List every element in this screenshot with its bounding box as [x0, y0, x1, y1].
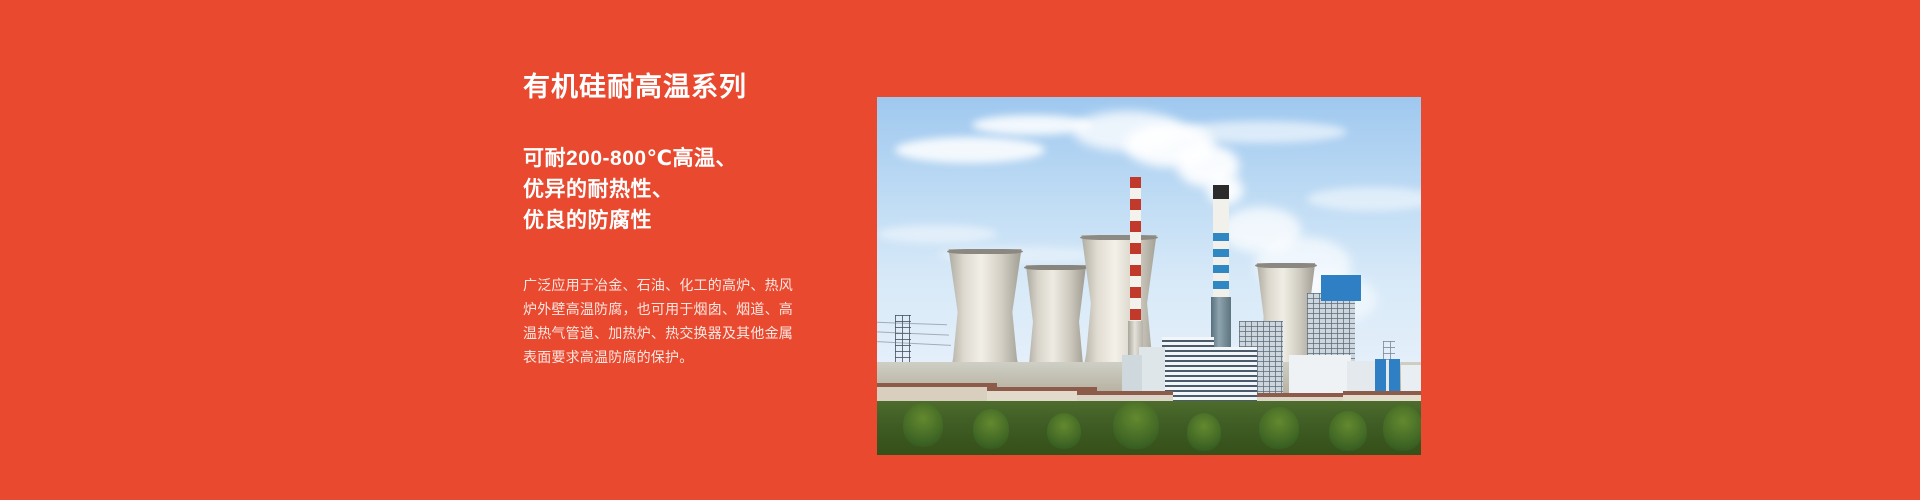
- tree-icon: [1259, 407, 1299, 449]
- banner-text-column: 有机硅耐高温系列 可耐200-800℃高温、 优异的耐热性、 优良的防腐性 广泛…: [523, 70, 843, 383]
- blue-striped-chimney: [1213, 185, 1229, 297]
- photo-canvas: [877, 97, 1421, 455]
- striped-chimney: [1130, 177, 1141, 327]
- subheadline-line-2: 优异的耐热性、: [523, 174, 843, 205]
- tree-icon: [1329, 411, 1367, 451]
- subheadline-line-1: 可耐200-800℃高温、: [523, 143, 843, 174]
- page-title: 有机硅耐高温系列: [523, 70, 843, 104]
- power-plant-photo: [877, 97, 1421, 455]
- subheadline-line-3: 优良的防腐性: [523, 205, 843, 236]
- tree-icon: [1383, 405, 1421, 451]
- office-building: [1213, 347, 1257, 401]
- subheadline-group: 可耐200-800℃高温、 优异的耐热性、 优良的防腐性: [523, 143, 843, 236]
- cooling-tower-rim: [947, 249, 1023, 254]
- tree-icon: [1187, 413, 1221, 451]
- tree-icon: [1113, 401, 1159, 449]
- cooling-tower-rim: [1024, 265, 1088, 270]
- rooftop: [1077, 391, 1173, 395]
- rooftop: [877, 383, 997, 387]
- body-description: 广泛应用于冶金、石油、化工的高炉、热风炉外壁高温防腐，也可用于烟囱、烟道、高温热…: [523, 273, 793, 369]
- tree-icon: [903, 403, 943, 447]
- rooftop: [1343, 391, 1421, 395]
- promo-banner: 有机硅耐高温系列 可耐200-800℃高温、 优异的耐热性、 优良的防腐性 广泛…: [0, 0, 1920, 500]
- cooling-tower-rim: [1255, 263, 1317, 268]
- smoke-plume: [1073, 111, 1183, 151]
- cloud-icon: [877, 225, 997, 243]
- cloud-icon: [895, 137, 1045, 163]
- cooling-tower-rim: [1080, 235, 1158, 240]
- blue-plant-building: [1321, 275, 1361, 301]
- tree-icon: [973, 409, 1009, 449]
- tree-icon: [1047, 413, 1081, 449]
